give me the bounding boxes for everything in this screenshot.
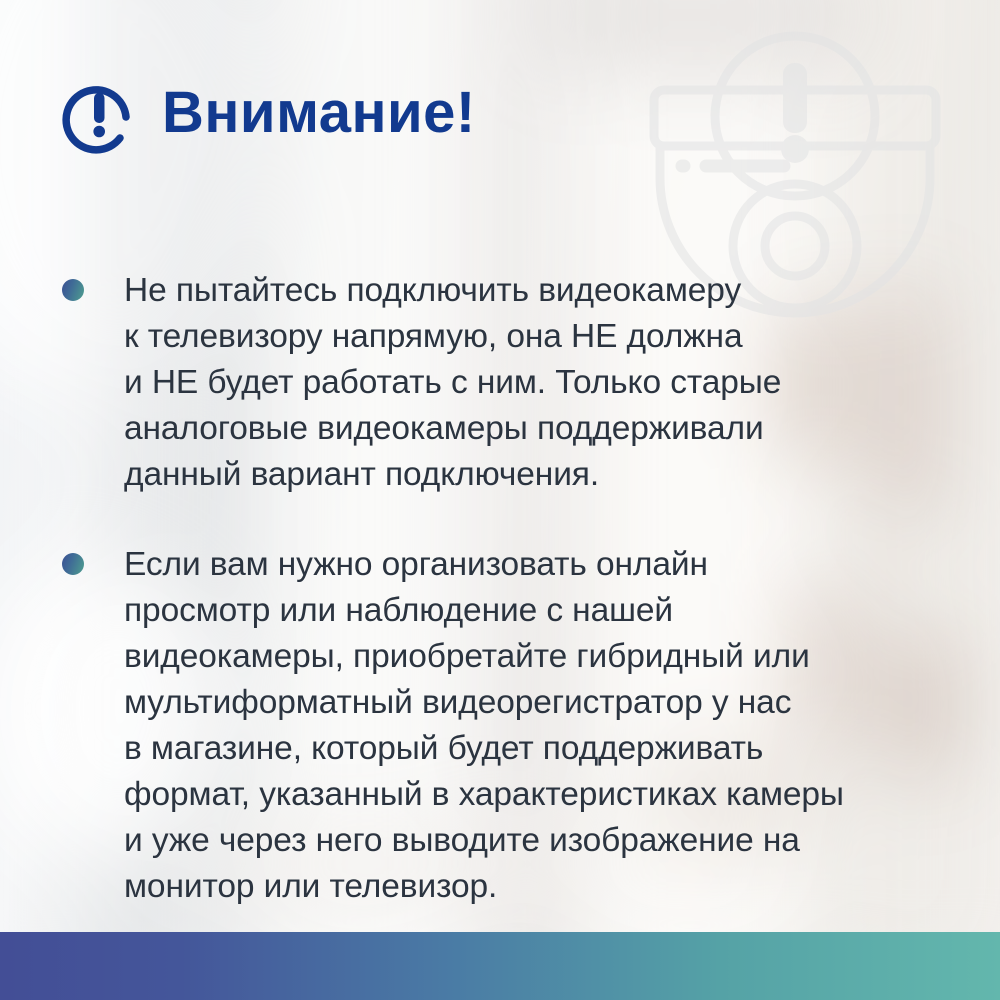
list-item-text: Не пытайтесь подключить видеокамеру к те… — [124, 268, 781, 498]
list-item: Если вам нужно организовать онлайн просм… — [62, 542, 962, 910]
list-item-text: Если вам нужно организовать онлайн просм… — [124, 542, 844, 910]
page-header: Внимание! — [58, 72, 476, 154]
footer-gradient-bar — [0, 932, 1000, 1000]
list-item: Не пытайтесь подключить видеокамеру к те… — [62, 268, 962, 498]
page-title: Внимание! — [162, 84, 476, 142]
gradient-bullet-icon — [62, 279, 84, 301]
slide-canvas: Внимание! Не пытайтесь подключить видеок… — [0, 0, 1000, 1000]
gradient-bullet-icon — [62, 553, 84, 575]
warning-list: Не пытайтесь подключить видеокамеру к те… — [62, 268, 962, 954]
exclamation-circle-icon — [58, 72, 140, 154]
